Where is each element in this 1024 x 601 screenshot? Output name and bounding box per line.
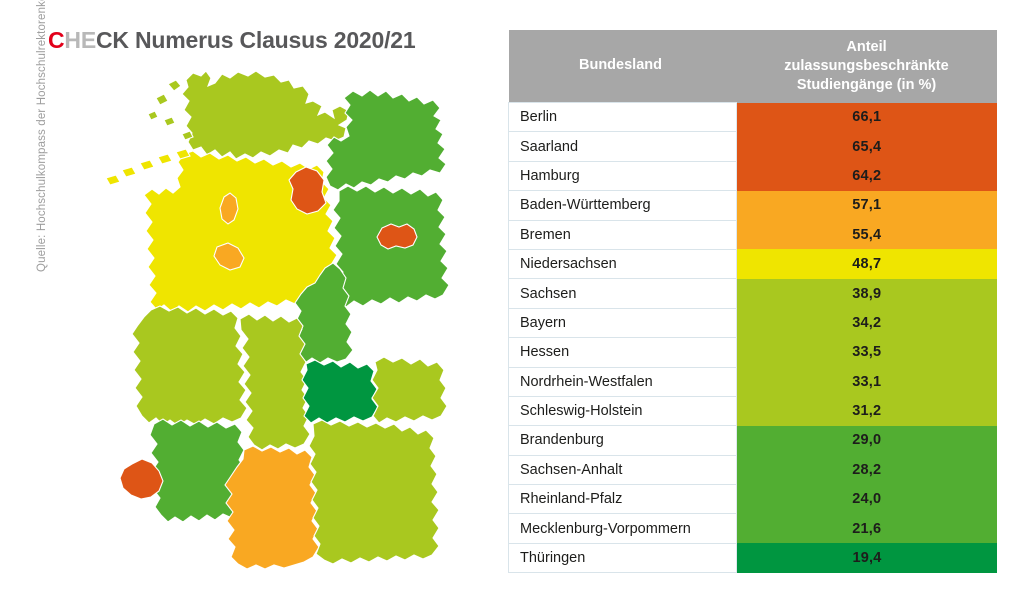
cell-anteil: 31,2 <box>737 396 998 425</box>
column-header-anteil-line1: Anteil <box>749 38 985 57</box>
title-letters-he: HE <box>64 27 96 53</box>
cell-bundesland: Bayern <box>509 308 737 337</box>
cell-anteil: 65,4 <box>737 132 998 161</box>
cell-bundesland: Sachsen-Anhalt <box>509 455 737 484</box>
table-row[interactable]: Schleswig-Holstein31,2 <box>509 396 998 425</box>
germany-choropleth-map <box>60 62 490 592</box>
table-row[interactable]: Saarland65,4 <box>509 132 998 161</box>
table-row[interactable]: Hessen33,5 <box>509 338 998 367</box>
cell-bundesland: Baden-Württemberg <box>509 191 737 220</box>
cell-bundesland: Nordrhein-Westfalen <box>509 367 737 396</box>
table-row[interactable]: Thüringen19,4 <box>509 543 998 572</box>
table-header-row: Bundesland Anteil zulassungsbeschränkte … <box>509 30 998 103</box>
cell-bundesland: Schleswig-Holstein <box>509 396 737 425</box>
map-region-sachsen[interactable] <box>372 357 447 423</box>
cell-anteil: 29,0 <box>737 426 998 455</box>
column-header-anteil: Anteil zulassungsbeschränkte Studiengäng… <box>737 30 998 103</box>
table-row[interactable]: Sachsen-Anhalt28,2 <box>509 455 998 484</box>
table-row[interactable]: Rheinland-Pfalz24,0 <box>509 485 998 514</box>
cell-anteil: 48,7 <box>737 249 998 278</box>
table-row[interactable]: Berlin66,1 <box>509 103 998 132</box>
table-row[interactable]: Sachsen38,9 <box>509 279 998 308</box>
cell-bundesland: Bremen <box>509 220 737 249</box>
map-region-mecklenburg-vorpommern[interactable] <box>326 90 446 190</box>
cell-bundesland: Niedersachsen <box>509 249 737 278</box>
numerus-clausus-table: Bundesland Anteil zulassungsbeschränkte … <box>508 30 998 573</box>
title-remainder: CK Numerus Clausus 2020/21 <box>96 27 416 53</box>
cell-anteil: 19,4 <box>737 543 998 572</box>
cell-bundesland: Mecklenburg-Vorpommern <box>509 514 737 543</box>
map-region-bayern[interactable] <box>309 420 439 564</box>
cell-anteil: 21,6 <box>737 514 998 543</box>
cell-bundesland: Hessen <box>509 338 737 367</box>
title-letter-c: C <box>48 27 64 53</box>
map-region-hessen[interactable] <box>240 314 310 450</box>
cell-bundesland: Brandenburg <box>509 426 737 455</box>
cell-anteil: 38,9 <box>737 279 998 308</box>
table-header: Bundesland Anteil zulassungsbeschränkte … <box>509 30 998 103</box>
table-row[interactable]: Bayern34,2 <box>509 308 998 337</box>
cell-anteil: 66,1 <box>737 103 998 132</box>
table-row[interactable]: Bremen55,4 <box>509 220 998 249</box>
column-header-anteil-line3: Studiengänge (in %) <box>749 76 985 95</box>
cell-anteil: 33,1 <box>737 367 998 396</box>
table-row[interactable]: Hamburg64,2 <box>509 161 998 190</box>
map-region-schleswig-holstein[interactable] <box>182 71 349 159</box>
cell-anteil: 57,1 <box>737 191 998 220</box>
column-header-bundesland: Bundesland <box>509 30 737 103</box>
map-region-berlin[interactable] <box>377 224 417 249</box>
source-note: Quelle: Hochschulkompass der Hochschulre… <box>36 0 48 272</box>
cell-anteil: 33,5 <box>737 338 998 367</box>
cell-anteil: 34,2 <box>737 308 998 337</box>
table-row[interactable]: Baden-Württemberg57,1 <box>509 191 998 220</box>
cell-anteil: 24,0 <box>737 485 998 514</box>
map-region-baden-wuerttemberg[interactable] <box>225 446 319 569</box>
cell-anteil: 64,2 <box>737 161 998 190</box>
table-row[interactable]: Niedersachsen48,7 <box>509 249 998 278</box>
page-title: CHECK Numerus Clausus 2020/21 <box>48 27 415 54</box>
table-body: Berlin66,1Saarland65,4Hamburg64,2Baden-W… <box>509 103 998 573</box>
cell-bundesland: Berlin <box>509 103 737 132</box>
table-row[interactable]: Mecklenburg-Vorpommern21,6 <box>509 514 998 543</box>
table-row[interactable]: Nordrhein-Westfalen33,1 <box>509 367 998 396</box>
cell-bundesland: Hamburg <box>509 161 737 190</box>
map-region-thueringen[interactable] <box>302 360 378 423</box>
cell-bundesland: Thüringen <box>509 543 737 572</box>
cell-anteil: 28,2 <box>737 455 998 484</box>
column-header-anteil-line2: zulassungsbeschränkte <box>749 57 985 76</box>
cell-bundesland: Saarland <box>509 132 737 161</box>
table-row[interactable]: Brandenburg29,0 <box>509 426 998 455</box>
map-region-nordrhein-westfalen[interactable] <box>132 306 247 426</box>
cell-bundesland: Rheinland-Pfalz <box>509 485 737 514</box>
cell-anteil: 55,4 <box>737 220 998 249</box>
cell-bundesland: Sachsen <box>509 279 737 308</box>
